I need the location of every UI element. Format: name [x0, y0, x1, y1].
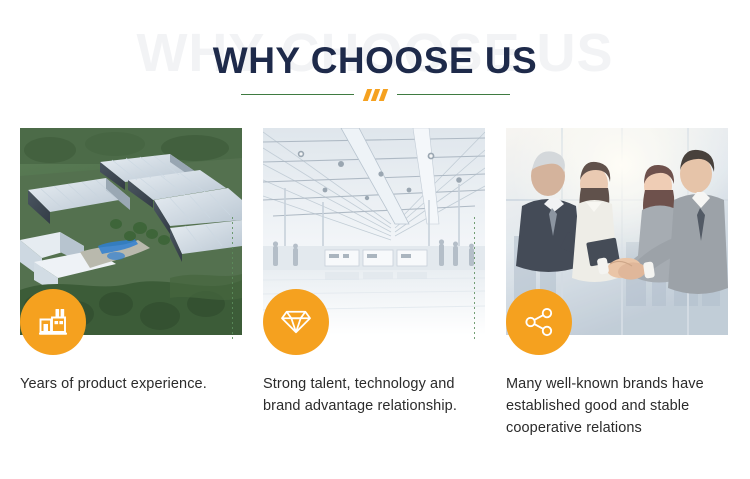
section-header: WHY CHOOSE US WHY CHOOSE US [0, 0, 750, 112]
card-caption: Many well-known brands have established … [506, 373, 728, 439]
feature-card-list: Years of product experience. [20, 128, 730, 439]
card-divider-1 [232, 217, 233, 339]
page-title: WHY CHOOSE US [0, 40, 750, 82]
feature-card: Years of product experience. [20, 128, 242, 439]
card-caption: Strong talent, technology and brand adva… [263, 373, 485, 417]
share-network-icon [524, 307, 554, 337]
share-network-icon-badge [506, 289, 572, 355]
divider-rule-left [241, 94, 354, 95]
feature-card: Strong talent, technology and brand adva… [263, 128, 485, 439]
factory-icon-badge [20, 289, 86, 355]
diamond-icon-badge [263, 289, 329, 355]
title-divider [0, 88, 750, 101]
card-divider-2 [474, 217, 475, 339]
card-caption: Years of product experience. [20, 373, 242, 395]
feature-card: Many well-known brands have established … [506, 128, 728, 439]
divider-rule-right [397, 94, 510, 95]
divider-slashes-icon [365, 88, 386, 101]
factory-icon [38, 308, 68, 336]
diamond-icon [281, 308, 311, 336]
why-choose-us-section: WHY CHOOSE US WHY CHOOSE US [0, 0, 750, 479]
